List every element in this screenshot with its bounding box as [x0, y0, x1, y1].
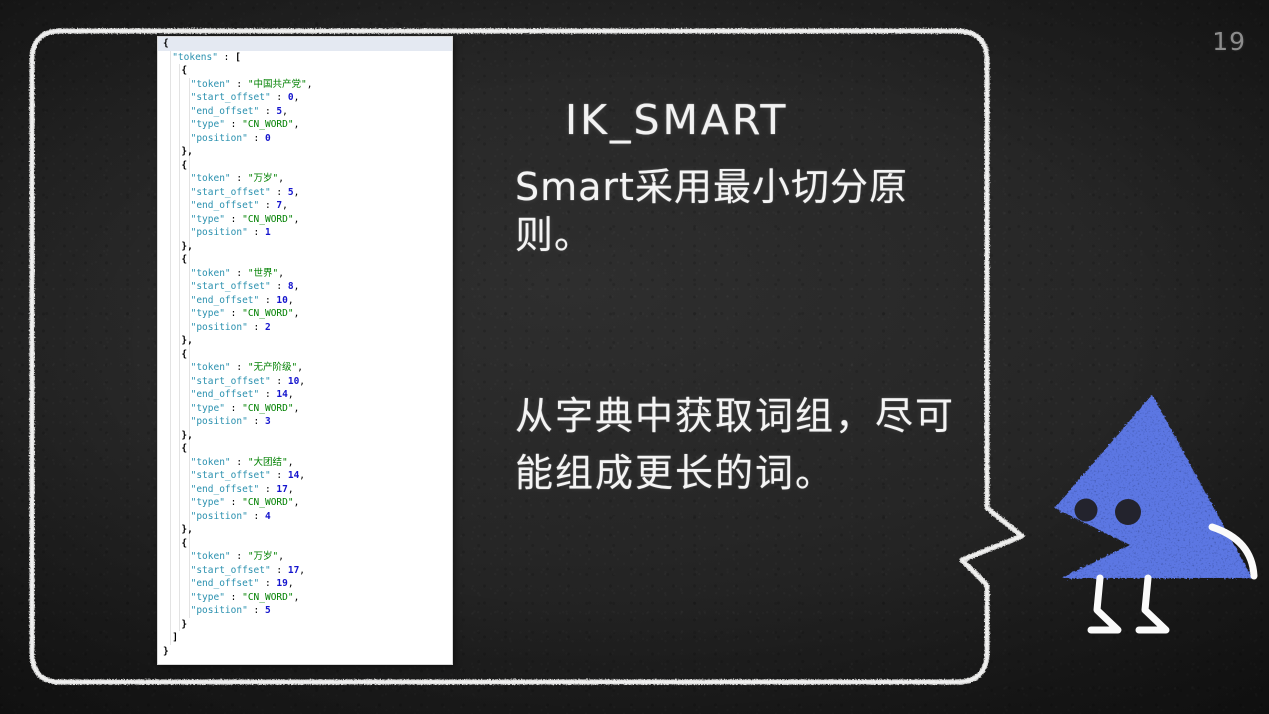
code-token: 0 [265, 133, 271, 144]
code-token: , [288, 389, 294, 400]
code-token: "万岁" [248, 173, 278, 184]
code-token: : [271, 565, 288, 576]
code-token: , [278, 173, 284, 184]
code-line[interactable]: "end_offset" : 14, [158, 388, 452, 402]
code-token: ] [172, 632, 178, 643]
code-token: "token" [191, 551, 231, 562]
code-token: }, [181, 524, 192, 535]
code-token: , [294, 497, 300, 508]
code-token: { [181, 160, 187, 171]
code-line[interactable]: } [158, 618, 452, 632]
code-line[interactable]: { [158, 253, 452, 267]
code-token: "end_offset" [191, 484, 260, 495]
code-token: , [294, 214, 300, 225]
code-token: "position" [191, 511, 248, 522]
code-line[interactable]: "end_offset" : 5, [158, 105, 452, 119]
code-line[interactable]: "type" : "CN_WORD", [158, 213, 452, 227]
code-token: : [248, 511, 265, 522]
code-token: 17 [288, 565, 299, 576]
code-token: "token" [191, 173, 231, 184]
code-token: : [225, 308, 242, 319]
code-token: }, [181, 335, 192, 346]
code-token: "CN_WORD" [242, 403, 293, 414]
code-line[interactable]: "end_offset" : 7, [158, 199, 452, 213]
code-token: "position" [191, 227, 248, 238]
code-token: : [231, 551, 248, 562]
code-token: 2 [265, 322, 271, 333]
code-token: "position" [191, 416, 248, 427]
code-token: { [181, 254, 187, 265]
code-token: "中国共产党" [248, 79, 307, 90]
code-line[interactable]: "tokens" : [ [158, 51, 452, 65]
code-token: , [288, 578, 294, 589]
code-token: "position" [191, 605, 248, 616]
code-token: "CN_WORD" [242, 497, 293, 508]
code-line[interactable]: }, [158, 240, 452, 254]
code-token: : [248, 227, 265, 238]
code-token: , [288, 295, 294, 306]
json-code-panel[interactable]: {"tokens" : [{"token" : "中国共产党","start_o… [158, 37, 452, 664]
slide-paragraph-2: 从字典中获取词组，尽可能组成更长的词。 [515, 388, 970, 502]
code-line[interactable]: { [158, 348, 452, 362]
code-token: } [181, 619, 187, 630]
code-line[interactable]: { [158, 442, 452, 456]
code-token: "tokens" [172, 52, 218, 63]
code-line[interactable]: "end_offset" : 10, [158, 294, 452, 308]
code-token: "position" [191, 133, 248, 144]
code-line[interactable]: "type" : "CN_WORD", [158, 402, 452, 416]
code-token: "大团结" [248, 457, 288, 468]
code-token: "start_offset" [191, 281, 271, 292]
code-line[interactable]: { [158, 537, 452, 551]
code-token: { [181, 65, 187, 76]
code-token: , [299, 565, 305, 576]
code-token: , [307, 79, 313, 90]
code-token: , [288, 457, 294, 468]
code-token: "start_offset" [191, 92, 271, 103]
triangle-mascot [1000, 380, 1269, 670]
code-token: : [259, 578, 276, 589]
code-token: }, [181, 146, 192, 157]
code-line[interactable]: "start_offset" : 8, [158, 280, 452, 294]
code-token: "end_offset" [191, 578, 260, 589]
code-line[interactable]: "end_offset" : 19, [158, 577, 452, 591]
code-token: : [271, 187, 288, 198]
mascot-leg-right [1139, 578, 1166, 630]
code-token: "start_offset" [191, 565, 271, 576]
code-token: , [294, 187, 300, 198]
code-token: , [297, 362, 303, 373]
code-token: } [163, 646, 169, 657]
code-token: "token" [191, 362, 231, 373]
code-token: "end_offset" [191, 389, 260, 400]
code-line[interactable]: "start_offset" : 5, [158, 186, 452, 200]
code-token: "type" [191, 497, 225, 508]
code-token: : [225, 592, 242, 603]
code-token: 4 [265, 511, 271, 522]
code-token: 5 [265, 605, 271, 616]
code-line[interactable]: "type" : "CN_WORD", [158, 496, 452, 510]
mascot-eye-right [1115, 499, 1141, 525]
code-line[interactable]: "token" : "无产阶级", [158, 361, 452, 375]
code-token: : [271, 281, 288, 292]
code-token: : [271, 470, 288, 481]
code-line[interactable]: "start_offset" : 0, [158, 91, 452, 105]
code-line[interactable]: }, [158, 429, 452, 443]
code-token: "type" [191, 308, 225, 319]
code-token: 17 [276, 484, 287, 495]
code-token: { [163, 38, 169, 49]
code-token: : [259, 484, 276, 495]
code-token: : [225, 403, 242, 414]
code-token: : [271, 376, 288, 387]
code-line[interactable]: "type" : "CN_WORD", [158, 307, 452, 321]
code-token: "start_offset" [191, 187, 271, 198]
code-token: "start_offset" [191, 470, 271, 481]
code-token: , [294, 403, 300, 414]
code-token: : [248, 605, 265, 616]
code-line-list: {"tokens" : [{"token" : "中国共产党","start_o… [158, 37, 452, 658]
code-line[interactable]: "position" : 2 [158, 321, 452, 335]
code-token: : [231, 457, 248, 468]
code-token: : [231, 268, 248, 279]
code-line[interactable]: { [158, 64, 452, 78]
code-token: { [181, 443, 187, 454]
code-token: : [259, 106, 276, 117]
code-token: "CN_WORD" [242, 119, 293, 130]
code-token: : [225, 497, 242, 508]
code-token: : [259, 295, 276, 306]
code-line[interactable]: "token" : "中国共产党", [158, 78, 452, 92]
code-token: "type" [191, 214, 225, 225]
code-token: : [259, 200, 276, 211]
code-line[interactable]: "start_offset" : 14, [158, 469, 452, 483]
code-line[interactable]: "type" : "CN_WORD", [158, 591, 452, 605]
code-token: "CN_WORD" [242, 308, 293, 319]
code-line[interactable]: "token" : "世界", [158, 267, 452, 281]
code-token: "token" [191, 268, 231, 279]
code-token: "end_offset" [191, 106, 260, 117]
code-token: "token" [191, 457, 231, 468]
code-token: "token" [191, 79, 231, 90]
code-line[interactable]: "token" : "万岁", [158, 550, 452, 564]
code-line[interactable]: "position" : 4 [158, 510, 452, 524]
code-token: , [294, 308, 300, 319]
code-token: : [231, 173, 248, 184]
code-token: 14 [288, 470, 299, 481]
page-number: 19 [1212, 27, 1246, 56]
code-line[interactable]: "token" : "万岁", [158, 172, 452, 186]
code-token: : [248, 322, 265, 333]
code-token: "世界" [248, 268, 278, 279]
code-token: 3 [265, 416, 271, 427]
code-token: 10 [288, 376, 299, 387]
code-token: , [282, 106, 288, 117]
code-token: : [271, 92, 288, 103]
code-line[interactable]: { [158, 159, 452, 173]
code-token: : [248, 133, 265, 144]
code-token: , [278, 551, 284, 562]
code-token: 10 [276, 295, 287, 306]
code-line[interactable]: "token" : "大团结", [158, 456, 452, 470]
code-token: , [288, 484, 294, 495]
code-token: : [225, 214, 242, 225]
code-token: 19 [276, 578, 287, 589]
code-token: , [294, 281, 300, 292]
code-line[interactable]: ] [158, 631, 452, 645]
code-token: , [282, 200, 288, 211]
code-line[interactable]: "position" : 3 [158, 415, 452, 429]
code-token: , [294, 592, 300, 603]
code-token: "end_offset" [191, 295, 260, 306]
code-token: , [294, 119, 300, 130]
code-line[interactable]: } [158, 645, 452, 659]
code-line[interactable]: "position" : 5 [158, 604, 452, 618]
code-token: }, [181, 430, 192, 441]
mascot-leg-left [1091, 578, 1118, 630]
code-line[interactable]: { [158, 37, 452, 51]
code-token: "start_offset" [191, 376, 271, 387]
code-token: , [294, 92, 300, 103]
code-line[interactable]: "position" : 0 [158, 132, 452, 146]
code-token: : [218, 52, 235, 63]
code-token: "end_offset" [191, 200, 260, 211]
slide-title: IK_SMART [565, 96, 788, 144]
code-token: : [259, 389, 276, 400]
mascot-eye-left [1075, 499, 1098, 522]
code-token: 1 [265, 227, 271, 238]
code-token: "type" [191, 403, 225, 414]
code-token: "type" [191, 119, 225, 130]
code-token: : [225, 119, 242, 130]
code-line[interactable]: "end_offset" : 17, [158, 483, 452, 497]
code-token: , [278, 268, 284, 279]
code-token: "position" [191, 322, 248, 333]
code-token: , [299, 470, 305, 481]
code-line[interactable]: "type" : "CN_WORD", [158, 118, 452, 132]
code-line[interactable]: "start_offset" : 10, [158, 375, 452, 389]
code-line[interactable]: }, [158, 145, 452, 159]
code-line[interactable]: }, [158, 523, 452, 537]
slide-paragraph-1: Smart采用最小切分原则。 [515, 163, 945, 259]
code-token: : [231, 362, 248, 373]
code-token: }, [181, 241, 192, 252]
code-token: [ [235, 52, 241, 63]
code-token: { [181, 538, 187, 549]
code-token: "type" [191, 592, 225, 603]
code-line[interactable]: "position" : 1 [158, 226, 452, 240]
code-token: : [231, 79, 248, 90]
code-token: 14 [276, 389, 287, 400]
code-token: "万岁" [248, 551, 278, 562]
code-line[interactable]: "start_offset" : 17, [158, 564, 452, 578]
code-token: "CN_WORD" [242, 592, 293, 603]
code-token: "CN_WORD" [242, 214, 293, 225]
code-line[interactable]: }, [158, 334, 452, 348]
code-token: : [248, 416, 265, 427]
code-token: "无产阶级" [248, 362, 297, 373]
code-token: , [299, 376, 305, 387]
code-token: { [181, 349, 187, 360]
